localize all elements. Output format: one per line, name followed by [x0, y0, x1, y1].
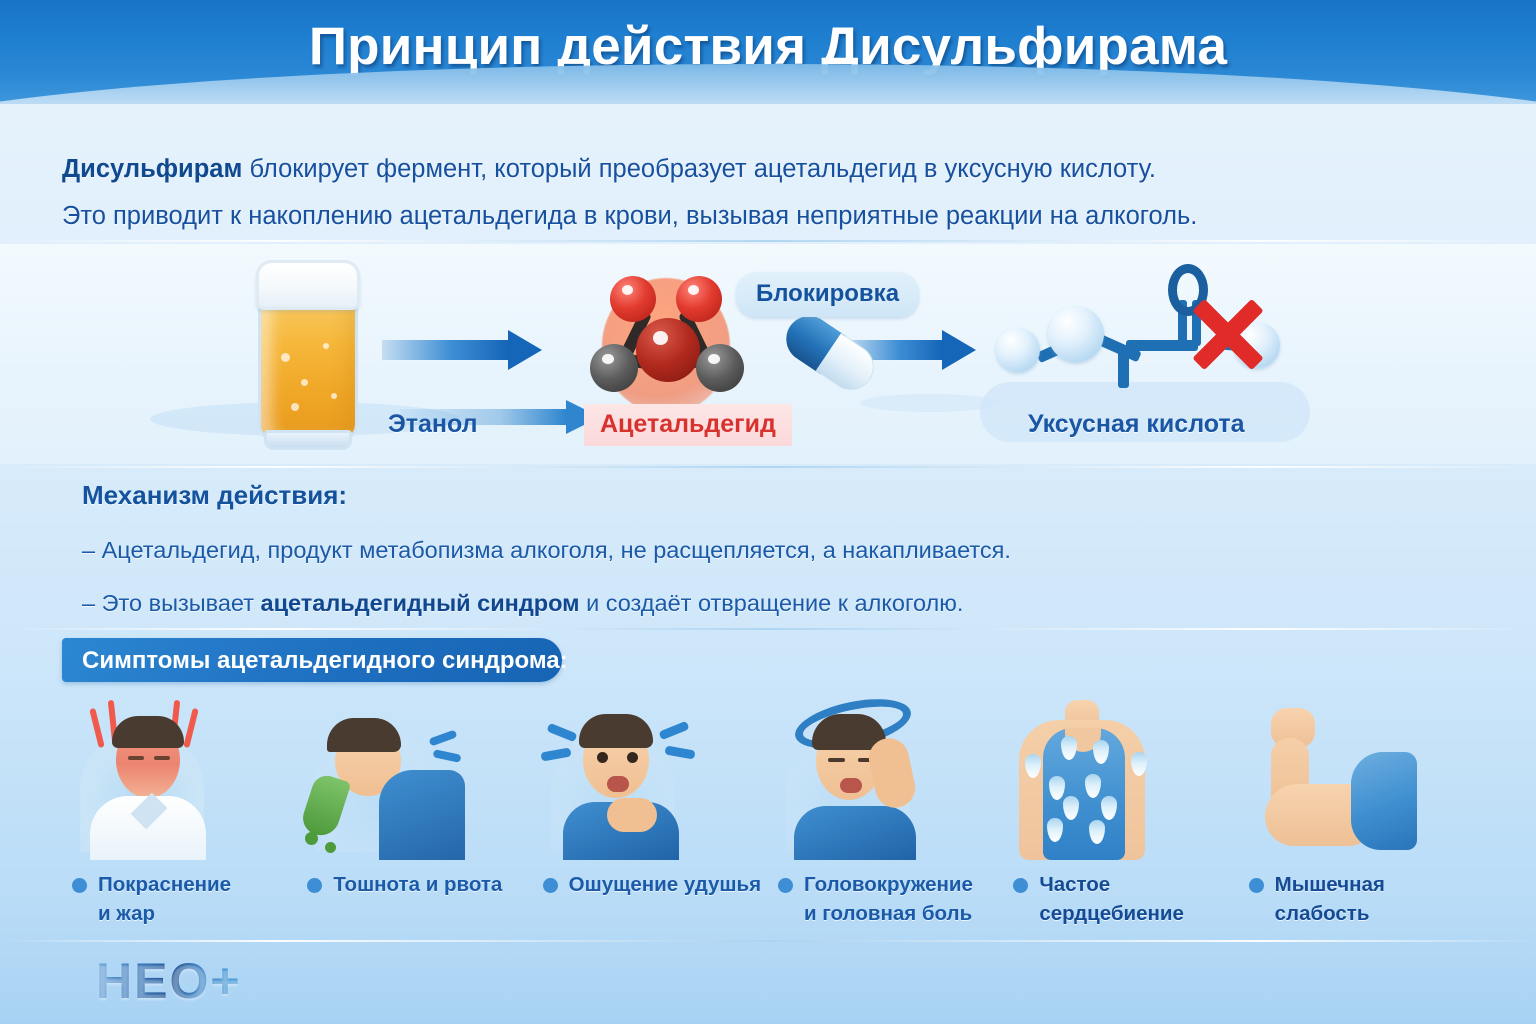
- symptom-caption: Частое сердцебиение: [1013, 870, 1234, 928]
- label-ethanol: Этанол: [388, 410, 478, 439]
- intro-line-1-rest: блокирует фермент, который преобразует а…: [242, 155, 1156, 183]
- arrow-ethanol-to-acetaldehyde: [382, 330, 542, 370]
- symptom-caption: Тошнота и рвота: [307, 870, 528, 899]
- open-mouth: [840, 778, 862, 793]
- atom-hydrogen-gray: [696, 344, 744, 392]
- atom-sphere: [1048, 306, 1104, 362]
- atom-carbon-center: [636, 318, 700, 382]
- hair: [579, 714, 653, 748]
- motion-line: [664, 745, 695, 759]
- mechanism-item-post: и создаёт отвращение к алкоголю.: [580, 590, 964, 616]
- symptom-item: Частое сердцебиение: [1003, 692, 1238, 942]
- bullet-dash: –: [82, 537, 102, 563]
- symptom-item: Покраснение и жар: [62, 692, 297, 942]
- arrow-shaft: [382, 340, 508, 360]
- heat-wave: [183, 708, 198, 748]
- divider-2: [0, 466, 1536, 468]
- symptoms-banner: Симптомы ацетальдегидного синдрома:: [62, 638, 562, 682]
- brand-logo: НЕО+: [96, 952, 242, 1010]
- symptom-caption: Покраснение и жар: [72, 870, 293, 928]
- open-mouth: [607, 776, 629, 792]
- choking-person-icon: [533, 692, 768, 860]
- intro-drug-name: Дисульфирам: [62, 155, 242, 183]
- hair: [327, 718, 401, 752]
- intro-block: Дисульфирам блокирует фермент, который п…: [62, 146, 1462, 240]
- atom-oxygen-red: [610, 276, 656, 322]
- atom-sphere: [996, 328, 1040, 372]
- acetic-acid-molecule-icon: [992, 266, 1282, 396]
- glass-base: [264, 430, 352, 450]
- flushed-face-icon: [62, 692, 297, 860]
- motion-line: [429, 729, 458, 746]
- eye: [627, 752, 638, 763]
- mechanism-item-highlight: ацетальдегидный синдром: [261, 590, 580, 616]
- flexed-arm-icon: [1239, 692, 1474, 860]
- shirt: [794, 806, 916, 860]
- symptom-item: Ошущение удушья: [533, 692, 768, 942]
- label-acetic-acid: Уксусная кислота: [1028, 410, 1245, 439]
- page-header: Принцип действия Дисульфирама: [0, 0, 1536, 104]
- heat-wave: [89, 708, 104, 748]
- intro-line-1: Дисульфирам блокирует фермент, который п…: [62, 146, 1462, 193]
- dizzy-person-icon: [768, 692, 1003, 860]
- page-title: Принцип действия Дисульфирама: [0, 16, 1536, 77]
- mechanism-item: – Это вызывает ацетальдегидный синдром и…: [82, 590, 1382, 617]
- sweating-torso-icon: [1003, 692, 1238, 860]
- atom-hydrogen-gray: [590, 344, 638, 392]
- label-acetaldehyde: Ацетальдегид: [584, 404, 792, 446]
- symptom-caption: Мышечная слабость: [1249, 870, 1470, 928]
- eye: [597, 752, 608, 763]
- divider-1: [0, 240, 1536, 242]
- acetaldehyde-molecule-icon: [576, 262, 756, 422]
- beer-glass-icon: [252, 258, 366, 448]
- mechanism-title: Механизм действия:: [82, 480, 1382, 511]
- puddle-shape: [860, 394, 1000, 412]
- bubble: [331, 393, 337, 399]
- symptoms-banner-label: Симптомы ацетальдегидного синдрома:: [82, 647, 568, 675]
- motion-line: [433, 749, 462, 763]
- symptom-item: Тошнота и рвота: [297, 692, 532, 942]
- divider-3: [0, 628, 1536, 630]
- mechanism-list: – Ацетальдегид, продукт метабопизма алко…: [82, 537, 1382, 617]
- blocked-x-icon: [1178, 286, 1270, 378]
- motion-line: [546, 723, 577, 743]
- bubble: [301, 379, 308, 386]
- bullet-dash: –: [82, 590, 102, 616]
- mechanism-item-text: Ацетальдегид, продукт метабопизма алкого…: [102, 537, 1011, 563]
- motion-line: [658, 721, 689, 741]
- eye: [128, 756, 144, 760]
- arrow-head: [508, 330, 542, 370]
- mechanism-item: – Ацетальдегид, продукт метабопизма алко…: [82, 537, 1382, 564]
- symptom-caption: Ошущение удушья: [543, 870, 764, 899]
- symptom-item: Головокружение и головная боль: [768, 692, 1003, 942]
- shirt: [379, 770, 465, 860]
- block-badge: Блокировка: [736, 272, 919, 317]
- beer-foam: [256, 260, 360, 310]
- sleeve: [1351, 752, 1417, 850]
- bond: [1118, 350, 1129, 388]
- bubble: [281, 353, 290, 362]
- bubble: [291, 403, 299, 411]
- intro-line-2: Это приводит к накоплению ацетальдегида …: [62, 193, 1462, 240]
- vomiting-person-icon: [297, 692, 532, 860]
- eye: [154, 756, 170, 760]
- symptoms-strip: Покраснение и жар Тошнота и рвота: [62, 692, 1474, 942]
- symptom-caption: Головокружение и головная боль: [778, 870, 999, 928]
- hand-on-throat: [607, 798, 657, 832]
- symptom-item: Мышечная слабость: [1239, 692, 1474, 942]
- hair: [112, 716, 184, 748]
- eye: [828, 758, 845, 762]
- divider-4: [0, 940, 1536, 942]
- bubble: [323, 343, 329, 349]
- arrow-head: [942, 330, 976, 370]
- mechanism-item-pre: Это вызывает: [102, 590, 261, 616]
- atom-oxygen-red: [676, 276, 722, 322]
- mechanism-block: Механизм действия: – Ацетальдегид, проду…: [82, 480, 1382, 617]
